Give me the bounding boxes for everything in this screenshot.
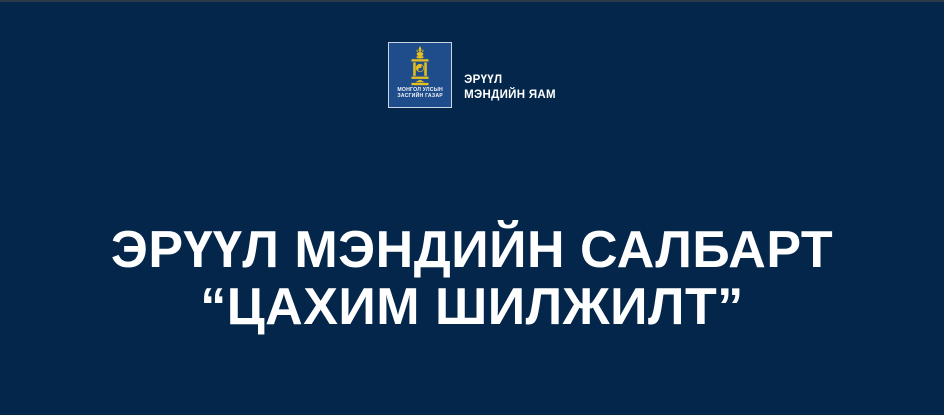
window-top-edge bbox=[0, 0, 944, 2]
slide-title-line-1: ЭРҮҮЛ МЭНДИЙН САЛБАРТ bbox=[0, 222, 944, 279]
organization-logo-lockup: МОНГОЛ УЛСЫН ЗАСГИЙН ГАЗАР ЭРҮҮЛ МЭНДИЙН… bbox=[0, 42, 944, 108]
ministry-name-line-1: ЭРҮҮЛ bbox=[464, 73, 556, 88]
slide-title-line-2: “ЦАХИМ ШИЛЖИЛТ” bbox=[0, 279, 944, 336]
emblem-caption: МОНГОЛ УЛСЫН ЗАСГИЙН ГАЗАР bbox=[397, 87, 443, 100]
ministry-name: ЭРҮҮЛ МЭНДИЙН ЯАМ bbox=[464, 42, 556, 102]
slide-title: ЭРҮҮЛ МЭНДИЙН САЛБАРТ “ЦАХИМ ШИЛЖИЛТ” bbox=[0, 222, 944, 336]
ministry-name-line-2: МЭНДИЙН ЯАМ bbox=[464, 88, 556, 103]
soyombo-emblem-icon bbox=[407, 46, 433, 86]
emblem-caption-line-2: ЗАСГИЙН ГАЗАР bbox=[397, 93, 443, 99]
government-emblem-box: МОНГОЛ УЛСЫН ЗАСГИЙН ГАЗАР bbox=[388, 42, 452, 108]
title-slide: МОНГОЛ УЛСЫН ЗАСГИЙН ГАЗАР ЭРҮҮЛ МЭНДИЙН… bbox=[0, 0, 944, 415]
